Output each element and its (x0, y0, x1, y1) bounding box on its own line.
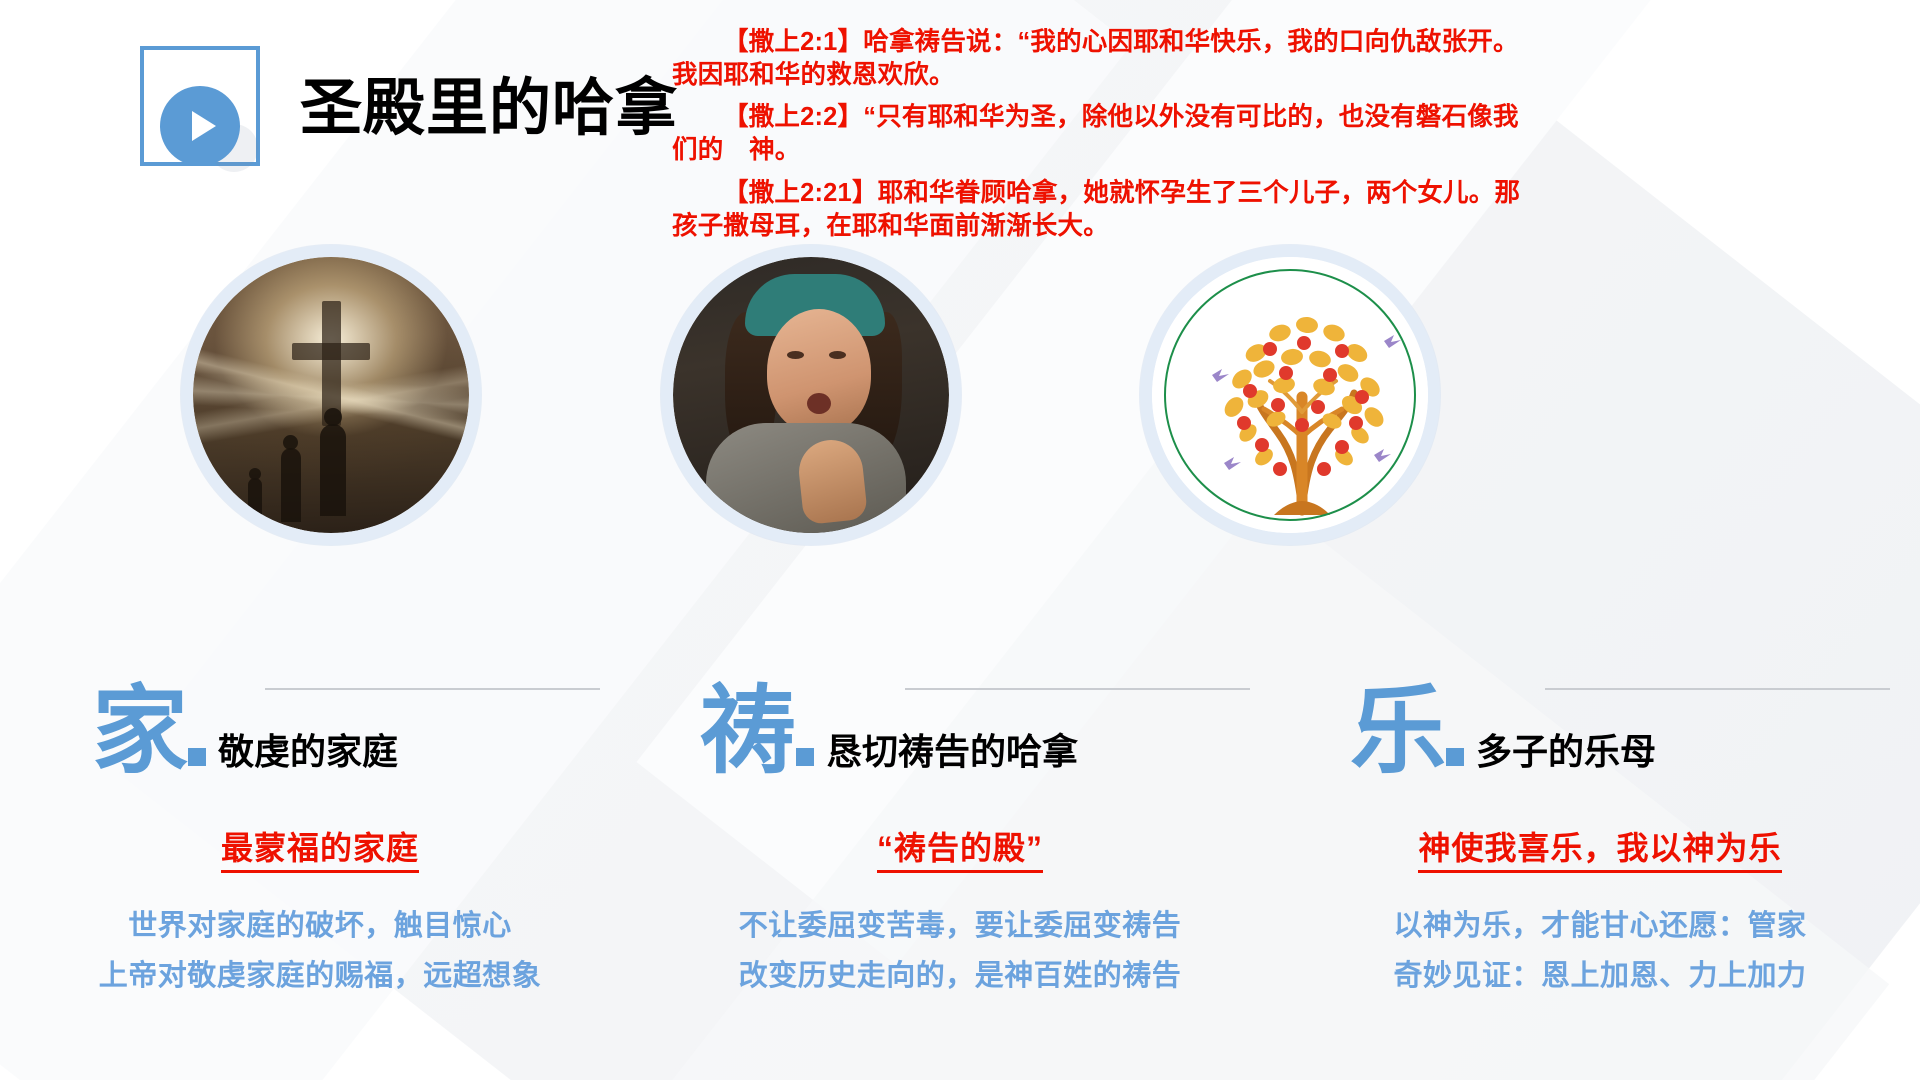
bullet-list: 以神为乐，才能甘心还愿：管家 奇妙见证：恩上加恩、力上加力 (1280, 902, 1920, 1002)
square-dot-icon (796, 748, 814, 766)
square-dot-icon (188, 748, 206, 766)
scripture-verse-1: 【撒上2:1】哈拿祷告说：“我的心因耶和华快乐，我的口向仇敌张开。我因耶和华的救… (672, 26, 1534, 92)
eye-left (787, 351, 804, 359)
title-block: 圣殿里的哈拿 (120, 30, 740, 180)
scripture-verse-2: 【撒上2:2】“只有耶和华为圣，除他以外没有可比的，也没有磐石像我们的 神。 (672, 101, 1534, 167)
cross-horizontal (292, 343, 370, 360)
square-dot-icon (1446, 748, 1464, 766)
bullet-item: 上帝对敬虔家庭的赐福，远超想象 (0, 952, 640, 1002)
column-heading: 乐 多子的乐母 (1280, 688, 1920, 776)
red-subheading-text: “祷告的殿” (877, 830, 1043, 873)
red-subheading-text: 最蒙福的家庭 (221, 830, 419, 873)
big-char: 乐 (1350, 688, 1444, 776)
big-char: 祷 (700, 688, 794, 776)
play-triangle-glyph (192, 111, 216, 141)
man-silhouette (320, 424, 346, 516)
red-subheading: 最蒙福的家庭 (0, 823, 640, 869)
scripture-verse-3: 【撒上2:21】耶和华眷顾哈拿，她就怀孕生了三个儿子，两个女儿。那孩子撒母耳，在… (672, 177, 1534, 243)
bullet-item: 以神为乐，才能甘心还愿：管家 (1280, 902, 1920, 952)
heading-subtitle: 多子的乐母 (1476, 734, 1656, 776)
column-heading: 家 敬虔的家庭 (0, 688, 640, 776)
column-family: 家 敬虔的家庭 最蒙福的家庭 世界对家庭的破坏，触目惊心 上帝对敬虔家庭的赐福，… (0, 640, 640, 1080)
column-joy: 乐 多子的乐母 神使我喜乐，我以神为乐 以神为乐，才能甘心还愿：管家 奇妙见证：… (1280, 640, 1920, 1080)
column-prayer: 祷 恳切祷告的哈拿 “祷告的殿” 不让委屈变苦毒，要让委屈变祷告 改变历史走向的… (640, 640, 1280, 1080)
woman-silhouette (281, 448, 301, 522)
red-subheading: “祷告的殿” (640, 823, 1280, 869)
content-columns: 家 敬虔的家庭 最蒙福的家庭 世界对家庭的破坏，触目惊心 上帝对敬虔家庭的赐福，… (0, 640, 1920, 1080)
heading-subtitle: 恳切祷告的哈拿 (826, 734, 1078, 776)
big-char: 家 (92, 688, 186, 776)
cross-vertical (322, 301, 341, 426)
bullet-item: 改变历史走向的，是神百姓的祷告 (640, 952, 1280, 1002)
face (767, 309, 871, 434)
bullet-list: 不让委屈变苦毒，要让委屈变祷告 改变历史走向的，是神百姓的祷告 (640, 902, 1280, 1002)
scripture-block: 【撒上2:1】哈拿祷告说：“我的心因耶和华快乐，我的口向仇敌张开。我因耶和华的救… (672, 26, 1534, 243)
bullet-item: 不让委屈变苦毒，要让委屈变祷告 (640, 902, 1280, 952)
red-subheading: 神使我喜乐，我以神为乐 (1280, 823, 1920, 869)
red-subheading-text: 神使我喜乐，我以神为乐 (1418, 830, 1781, 873)
bullet-item: 奇妙见证：恩上加恩、力上加力 (1280, 952, 1920, 1002)
bullet-list: 世界对家庭的破坏，触目惊心 上帝对敬虔家庭的赐福，远超想象 (0, 902, 640, 1002)
child-silhouette (248, 478, 262, 522)
page-title: 圣殿里的哈拿 (300, 78, 678, 140)
heading-subtitle: 敬虔的家庭 (218, 734, 398, 776)
tree-ring-border (1164, 269, 1416, 521)
mouth (807, 393, 831, 414)
eye-right (829, 351, 846, 359)
play-icon (160, 86, 240, 166)
column-heading: 祷 恳切祷告的哈拿 (640, 688, 1280, 776)
bullet-item: 世界对家庭的破坏，触目惊心 (0, 902, 640, 952)
